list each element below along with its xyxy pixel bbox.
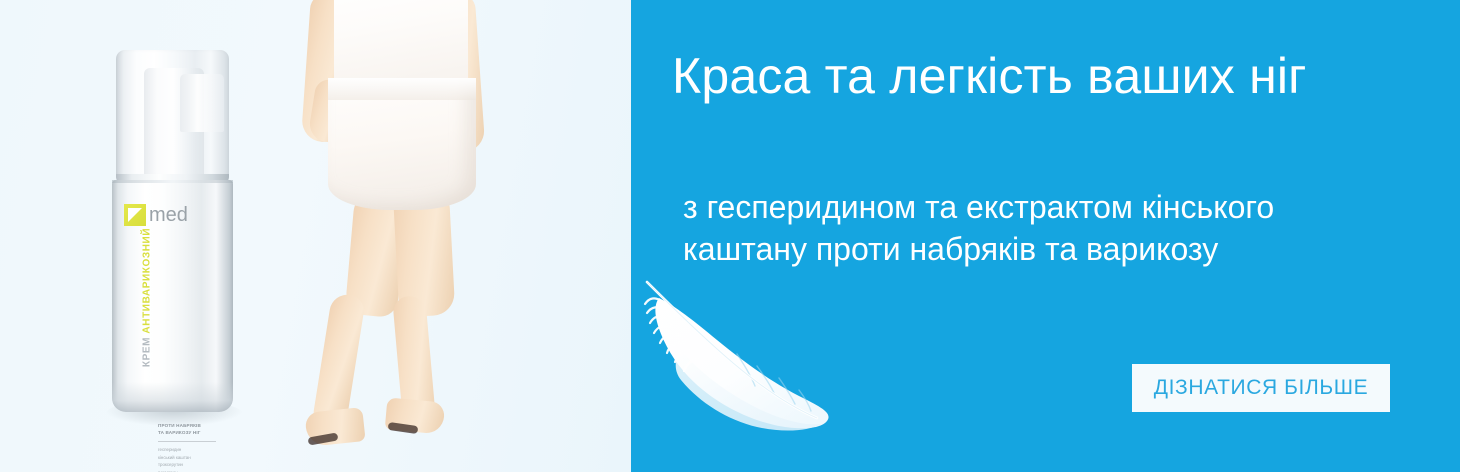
learn-more-button[interactable]: ДІЗНАТИСЯ БІЛЬШЕ	[1132, 364, 1390, 412]
brand-logo: med	[124, 204, 188, 226]
subheadline-line-2: каштану проти набряків та варикозу	[683, 228, 1423, 270]
brand-logo-text: med	[149, 205, 188, 225]
headline: Краса та легкість ваших ніг	[672, 48, 1432, 104]
subheadline: з гесперидином та екстрактом кінського к…	[683, 186, 1423, 270]
promo-banner: med КРЕМ АНТИВАРИКОЗНИЙ ПРОТИ НАБРЯКІВ Т…	[0, 0, 1460, 472]
list-item: кінський каштан	[158, 454, 226, 462]
bottle-pump-nozzle	[180, 74, 224, 132]
bottle-neck-seam	[112, 180, 233, 183]
bottle-body: med КРЕМ АНТИВАРИКОЗНИЙ ПРОТИ НАБРЯКІВ Т…	[112, 180, 233, 412]
learn-more-button-label: ДІЗНАТИСЯ БІЛЬШЕ	[1154, 376, 1368, 400]
model-legs-photo	[288, 0, 520, 472]
subheadline-line-1: з гесперидином та екстрактом кінського	[683, 186, 1423, 228]
bottle-claim-divider	[158, 441, 216, 442]
bottle-vertical-label: КРЕМ АНТИВАРИКОЗНИЙ	[142, 218, 153, 378]
left-product-panel: med КРЕМ АНТИВАРИКОЗНИЙ ПРОТИ НАБРЯКІВ Т…	[0, 0, 631, 472]
bottle-vertical-label-prefix: КРЕМ	[142, 337, 153, 367]
model-towel-fold	[328, 78, 476, 100]
bottle-claim-text: ПРОТИ НАБРЯКІВ ТА ВАРИКОЗУ НІГ	[158, 423, 224, 436]
feather-icon	[641, 278, 871, 443]
bottle-vertical-label-main: АНТИВАРИКОЗНИЙ	[142, 228, 153, 334]
bottle-ingredient-list: гесперидин кінський каштан троксерутин р…	[158, 446, 226, 472]
bottle-cap	[116, 50, 229, 180]
bottle-pump	[144, 68, 204, 180]
product-bottle-image: med КРЕМ АНТИВАРИКОЗНИЙ ПРОТИ НАБРЯКІВ Т…	[112, 48, 233, 420]
right-message-panel: Краса та легкість ваших ніг з гесперидин…	[631, 0, 1460, 472]
bottle-claim-line-1: ПРОТИ НАБРЯКІВ	[158, 423, 224, 430]
bottle-base-shading	[112, 382, 233, 412]
bottle-claim-line-2: ТА ВАРИКОЗУ НІГ	[158, 430, 224, 437]
list-item: троксерутин	[158, 461, 226, 469]
list-item: гесперидин	[158, 446, 226, 454]
model-left-shin	[312, 292, 366, 428]
